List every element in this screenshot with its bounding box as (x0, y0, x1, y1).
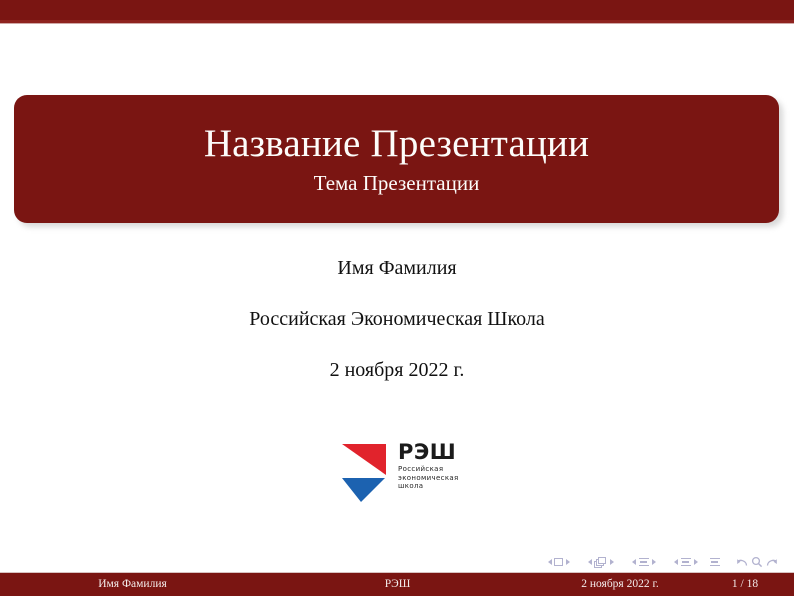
search-icon[interactable] (751, 556, 763, 568)
prev-slide-arrow-icon[interactable] (548, 559, 552, 565)
logo-wordmark: РЭШ Российская экономическая школа (398, 442, 468, 491)
footer-bar: Имя Фамилия РЭШ 2 ноября 2022 г. 1 / 18 (0, 573, 794, 596)
author-name: Имя Фамилия (0, 258, 794, 278)
logo-line-3: школа (398, 482, 468, 491)
next-subsection-arrow-icon[interactable] (652, 559, 656, 565)
institute-name: Российская Экономическая Школа (0, 309, 794, 329)
document-icon[interactable] (709, 557, 720, 567)
frame-navigation-group[interactable] (585, 557, 616, 568)
header-bar (0, 0, 794, 20)
logo-arrow-mark (341, 442, 393, 504)
footer-author: Имя Фамилия (0, 573, 265, 596)
header-bar-hairline (0, 23, 794, 24)
footer-short-title: РЭШ (265, 573, 530, 596)
logo-line-1: Российская (398, 465, 468, 474)
page-title: Название Презентации (204, 123, 589, 165)
title-block: Название Презентации Тема Презентации (14, 95, 779, 223)
history-navigation-group[interactable] (736, 556, 778, 568)
logo-acronym: РЭШ (398, 442, 468, 463)
subsection-navigation-group[interactable] (629, 557, 658, 567)
slide-icon[interactable] (554, 558, 563, 566)
section-icon[interactable] (680, 557, 691, 567)
resh-logo: РЭШ Российская экономическая школа (341, 440, 466, 506)
title-metadata: Имя Фамилия Российская Экономическая Шко… (0, 258, 794, 380)
subsection-icon[interactable] (638, 557, 649, 567)
next-section-arrow-icon[interactable] (694, 559, 698, 565)
back-icon[interactable] (736, 556, 749, 568)
next-frame-arrow-icon[interactable] (610, 559, 614, 565)
prev-subsection-arrow-icon[interactable] (632, 559, 636, 565)
beamer-navigation-bar[interactable] (0, 553, 794, 571)
frame-icon[interactable] (594, 557, 607, 568)
forward-icon[interactable] (765, 556, 778, 568)
next-slide-arrow-icon[interactable] (566, 559, 570, 565)
footer-page-number: 1 / 18 (710, 573, 780, 596)
slide-navigation-group[interactable] (545, 558, 572, 566)
section-navigation-group[interactable] (671, 557, 700, 567)
page-subtitle: Тема Презентации (314, 172, 480, 195)
prev-section-arrow-icon[interactable] (674, 559, 678, 565)
document-navigation-group[interactable] (709, 557, 720, 567)
footer-date: 2 ноября 2022 г. (530, 573, 710, 596)
prev-frame-arrow-icon[interactable] (588, 559, 592, 565)
logo-line-2: экономическая (398, 474, 468, 483)
presentation-date: 2 ноября 2022 г. (0, 360, 794, 380)
presentation-slide: Название Презентации Тема Презентации Им… (0, 0, 794, 596)
